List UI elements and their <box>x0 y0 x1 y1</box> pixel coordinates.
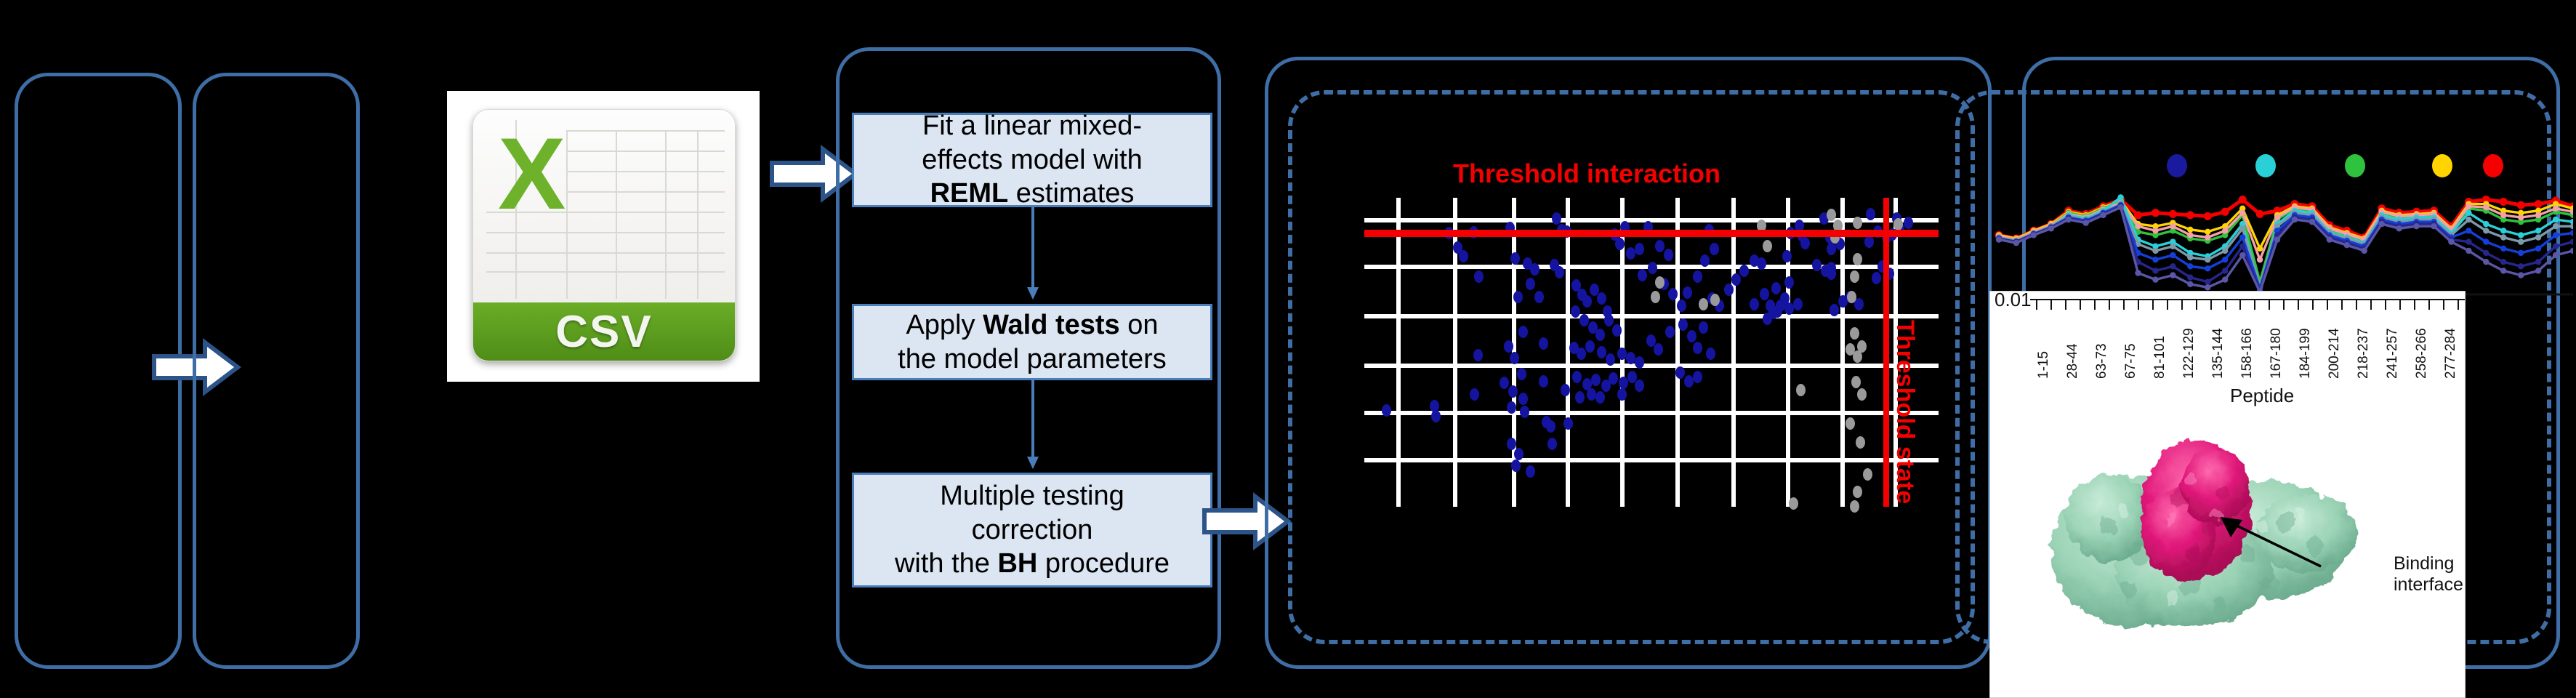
scatter-point <box>1474 270 1484 283</box>
point-series-darknavy <box>2570 238 2573 244</box>
scatter-point <box>1470 388 1479 401</box>
scatter-point <box>1665 326 1675 338</box>
scatter-point <box>1693 342 1702 354</box>
scatter-point <box>1530 263 1539 276</box>
point-series-steel <box>2500 234 2506 240</box>
scatter-point-ns <box>1851 376 1861 388</box>
csv-x-letter: X <box>498 123 565 225</box>
scatter-point-ns <box>1850 270 1859 283</box>
scatter-point <box>1693 270 1702 283</box>
grid-v <box>1731 198 1736 507</box>
scatter-point <box>1739 265 1749 277</box>
scatter-point <box>1459 250 1468 262</box>
point-series-pink <box>2170 223 2175 229</box>
scatter-point <box>1693 371 1702 383</box>
point-series-purple <box>2518 272 2524 278</box>
scatter-point <box>1604 314 1614 326</box>
peptide-tick-label: 218-237 <box>2356 328 2372 379</box>
point-series-purple <box>2344 242 2350 248</box>
scatter-point <box>1539 375 1548 388</box>
point-series-purple <box>2152 276 2158 282</box>
scatter-point <box>1587 388 1596 401</box>
marker-cyan <box>2255 154 2276 177</box>
scatter-point <box>1700 254 1710 267</box>
scatter-point <box>1563 417 1573 430</box>
scatter-point-ns <box>1857 388 1867 401</box>
point-series-cyan <box>2117 194 2123 200</box>
scatter-point <box>1577 348 1586 360</box>
peptide-tick-label: 122-129 <box>2181 328 2197 379</box>
scatter-point-ns <box>1856 436 1865 449</box>
scatter-point <box>1866 208 1875 220</box>
scatter-point <box>1572 371 1582 383</box>
scatter-point <box>1635 380 1644 392</box>
grid-h <box>1364 411 1939 415</box>
scatter-point <box>1675 366 1685 379</box>
scatter-point <box>1668 288 1678 300</box>
protein-structure-image <box>2030 417 2379 649</box>
point-series-darknavy <box>2170 263 2175 269</box>
point-series-red <box>2517 201 2525 209</box>
point-series-purple <box>2222 276 2228 282</box>
point-series-steel <box>2222 248 2228 254</box>
point-series-blue <box>2500 246 2506 252</box>
point-series-red <box>2134 211 2142 219</box>
point-series-purple <box>2553 252 2559 258</box>
point-series-pink <box>2205 234 2210 240</box>
scatter-point <box>1648 262 1657 274</box>
point-series-purple <box>2535 268 2541 273</box>
point-series-pink <box>2187 232 2193 238</box>
point-series-blue <box>2535 246 2541 252</box>
point-series-cyan <box>2500 228 2506 233</box>
scatter-point-ns <box>1710 294 1720 306</box>
scatter-point <box>1431 410 1441 422</box>
marker-yellow <box>2432 154 2452 177</box>
scatter-point <box>1699 321 1708 334</box>
scatter-point-ns <box>1853 217 1862 229</box>
scatter-point <box>1547 438 1557 450</box>
scatter-point <box>1571 305 1580 318</box>
scatter-point <box>1585 340 1595 353</box>
wald-line1-post: on <box>1120 310 1159 340</box>
scatter-point <box>1539 337 1548 350</box>
scatter-point-ns <box>1789 497 1798 510</box>
scatter-point-ns <box>1651 291 1660 303</box>
point-series-darknavy <box>2205 279 2210 285</box>
scatter-point <box>1827 243 1836 255</box>
scatter-point <box>1606 353 1615 366</box>
scatter-point <box>1534 291 1544 303</box>
point-series-purple <box>2187 281 2193 287</box>
point-series-purple <box>2083 220 2089 225</box>
scatter-point <box>1872 272 1881 284</box>
scatter-point-ns <box>1763 240 1772 252</box>
scatter-point <box>1812 259 1822 271</box>
point-series-steel <box>2535 234 2541 240</box>
scatter-point <box>1757 257 1766 270</box>
scatter-point <box>1504 340 1513 353</box>
scatter-point <box>1678 318 1688 331</box>
pipeline-figure: X CSV Fit a linear mixed- effects model … <box>0 0 2576 687</box>
scatter-point <box>1683 286 1692 299</box>
connector-box1-to-box2 <box>1027 207 1039 300</box>
scatter-point-ns <box>1796 384 1806 396</box>
scatter-point <box>1664 249 1673 261</box>
grid-v <box>1396 198 1401 507</box>
point-series-purple <box>2500 268 2506 273</box>
point-series-purple <box>2048 225 2054 231</box>
scatter-point <box>1507 401 1516 414</box>
point-series-purple <box>2239 252 2245 258</box>
csv-label-strip: CSV <box>473 302 735 361</box>
grid-v <box>1786 198 1790 507</box>
fit-model-reml: REML <box>930 178 1009 209</box>
scatter-point <box>1507 438 1516 450</box>
point-series-red <box>2204 212 2212 220</box>
scatter-point <box>1776 300 1785 312</box>
scatter-point-ns <box>1847 291 1856 303</box>
binding-interface-line2: interface <box>2394 574 2463 595</box>
scatter-point <box>1595 391 1605 404</box>
scatter-point <box>1500 377 1509 389</box>
scatter-point <box>1510 252 1520 265</box>
csv-icon-card: X CSV <box>447 91 760 382</box>
point-series-darknavy <box>2222 268 2228 273</box>
point-series-pink <box>2239 210 2245 216</box>
peptide-tick-label: 277-284 <box>2443 328 2459 379</box>
point-series-darknavy <box>2553 244 2559 249</box>
point-series-pink <box>2152 228 2158 233</box>
scatter-point <box>1731 273 1741 286</box>
scatter-point <box>1514 448 1524 460</box>
scatter-point-ns <box>1853 486 1862 498</box>
point-series-purple <box>2135 270 2141 276</box>
point-series-blue <box>2170 252 2175 258</box>
point-series-purple <box>2205 284 2210 290</box>
wald-bold: Wald tests <box>983 310 1120 340</box>
scatter-point <box>1655 240 1665 252</box>
point-series-yellow <box>2187 227 2193 233</box>
scatter-point-ns <box>1699 298 1708 310</box>
point-series-purple <box>2413 223 2419 229</box>
scatter-point <box>1687 330 1696 342</box>
point-series-steel <box>2205 257 2210 262</box>
point-series-cyan <box>2535 228 2541 233</box>
point-series-darknavy <box>2152 268 2158 273</box>
scatter-point <box>1619 377 1628 389</box>
threshold-interaction-line <box>1364 230 1939 237</box>
grid-h <box>1364 458 1939 462</box>
mt-line2: correction <box>972 515 1093 545</box>
scatter-point <box>1582 295 1592 308</box>
point-series-blue <box>2239 234 2245 240</box>
scatter-point <box>1784 276 1794 289</box>
point-series-purple <box>2274 236 2280 242</box>
point-series-purple <box>2431 223 2436 229</box>
scatter-point <box>1510 352 1519 364</box>
peptide-tick-label: 28-44 <box>2065 343 2081 379</box>
peptide-axis-title: Peptide <box>2230 385 2294 407</box>
peptide-tick-label: 184-199 <box>2298 328 2314 379</box>
point-series-steel <box>2553 223 2559 229</box>
scatter-point-ns <box>1846 417 1855 430</box>
scatter-point <box>1526 278 1535 290</box>
scatter-point <box>1518 393 1528 405</box>
point-series-red <box>2186 211 2194 219</box>
point-series-cyan <box>2553 217 2559 222</box>
scatter-point-ns <box>1857 340 1867 353</box>
point-series-steel <box>2152 248 2158 254</box>
scatter-point <box>1771 282 1781 294</box>
multiple-testing-box: Multiple testing correction with the BH … <box>852 473 1212 587</box>
point-series-steel <box>2570 223 2573 229</box>
scatter-point <box>1635 356 1644 369</box>
scatter-point <box>1575 391 1585 404</box>
point-series-pink <box>2466 204 2471 209</box>
scatter-point <box>1473 349 1483 361</box>
point-series-purple <box>2483 259 2489 265</box>
line-series-layer <box>1995 194 2574 295</box>
peptide-tick-label: 63-73 <box>2094 343 2110 379</box>
peptide-results-card: 0.01 <box>1989 291 2466 698</box>
scatter-point <box>1508 385 1518 398</box>
point-series-red <box>2152 209 2160 217</box>
scatter-point <box>1830 304 1839 316</box>
scatter-point <box>1615 238 1625 250</box>
binding-interface-label: Binding interface <box>2394 553 2463 595</box>
scatter-point <box>1552 212 1561 225</box>
marker-navy <box>2167 154 2187 177</box>
scatter-point <box>1724 284 1734 296</box>
scatter-point <box>1677 300 1686 312</box>
point-series-darknavy <box>2500 259 2506 265</box>
point-series-red <box>2221 208 2229 216</box>
scatter-point <box>1904 217 1913 229</box>
scatter-point <box>1654 343 1663 356</box>
scatter-point <box>1793 298 1803 310</box>
point-series-steel <box>2466 217 2471 222</box>
mt-line3-post: procedure <box>1037 548 1170 579</box>
peptide-tick-label: 258-266 <box>2414 328 2430 379</box>
point-series-pink <box>2135 223 2141 229</box>
wald-line1-pre: Apply <box>906 310 983 340</box>
point-series-darknavy <box>2466 238 2471 244</box>
point-series-purple <box>2031 232 2037 238</box>
volcano-scatter-plot <box>1364 198 1939 507</box>
point-series-steel <box>2187 254 2193 260</box>
point-series-red <box>2500 198 2508 206</box>
point-series-blue <box>2570 230 2573 236</box>
point-series-pink <box>2553 206 2559 212</box>
point-series-pink <box>2257 257 2263 262</box>
grid-v <box>1675 198 1680 507</box>
point-series-darknavy <box>2239 244 2245 249</box>
scatter-point <box>1635 243 1644 255</box>
point-series-pink <box>2500 212 2506 218</box>
scatter-point <box>1518 326 1528 338</box>
point-series-purple <box>2117 204 2123 210</box>
point-series-blue <box>2553 232 2559 238</box>
scatter-point <box>1760 288 1769 300</box>
fit-model-line3-post: estimates <box>1008 178 1134 209</box>
point-series-red <box>2169 210 2177 218</box>
scatter-point-ns <box>1850 500 1859 513</box>
fit-model-box: Fit a linear mixed- effects model with R… <box>852 113 1212 207</box>
peptide-tick-labels: 1-1528-4463-7367-7581-101122-129135-1441… <box>1990 292 2465 386</box>
point-series-pink <box>2483 204 2489 210</box>
point-series-purple <box>2292 217 2298 222</box>
scatter-point <box>1591 374 1601 386</box>
point-series-purple <box>2379 221 2385 227</box>
fit-model-line2: effects model with <box>922 145 1142 175</box>
peptide-tick-label: 158-166 <box>2239 328 2255 379</box>
scatter-point <box>1382 404 1391 417</box>
point-series-pink <box>2222 228 2228 233</box>
peptide-tick-label: 167-180 <box>2269 328 2285 379</box>
binding-interface-line1: Binding <box>2394 553 2463 574</box>
csv-label: CSV <box>555 306 652 358</box>
mt-line3-pre: with the <box>895 548 998 579</box>
point-series-cyan <box>2466 210 2471 216</box>
wald-tests-box: Apply Wald tests on the model parameters <box>852 304 1212 380</box>
point-series-purple <box>2013 240 2019 246</box>
grid-h <box>1364 314 1939 318</box>
scatter-point <box>1597 292 1606 305</box>
scatter-point <box>1595 329 1605 341</box>
point-series-purple <box>2309 219 2315 225</box>
point-series-red <box>2256 210 2264 218</box>
threshold-state-line <box>1883 198 1889 507</box>
scatter-point <box>1526 465 1535 478</box>
scatter-point-ns <box>1893 218 1903 230</box>
point-series-blue <box>2205 265 2210 271</box>
peptide-tick-label: 200-214 <box>2327 328 2343 379</box>
point-series-darknavy <box>2518 263 2524 269</box>
scatter-point <box>1517 368 1526 380</box>
wald-line2: the model parameters <box>898 344 1167 374</box>
scatter-point <box>1609 372 1618 385</box>
grid-h <box>1364 364 1939 368</box>
fit-model-line1: Fit a linear mixed- <box>922 111 1142 141</box>
peptide-tick-label: 1-15 <box>2036 351 2052 379</box>
scatter-point <box>1710 243 1719 255</box>
point-series-blue <box>2152 257 2158 262</box>
scatter-point <box>1638 269 1647 281</box>
point-series-red <box>2239 196 2247 204</box>
scatter-point <box>1750 298 1759 310</box>
point-series-blue <box>2518 250 2524 256</box>
point-series-purple <box>2448 238 2454 244</box>
point-series-steel <box>2170 244 2175 249</box>
scatter-point-ns <box>1827 209 1836 221</box>
scatter-point <box>1561 384 1570 396</box>
scatter-point <box>1612 324 1622 337</box>
point-series-blue <box>2187 263 2193 269</box>
point-series-darknavy <box>2535 259 2541 265</box>
point-series-darknavy <box>2187 274 2193 280</box>
point-series-red <box>2535 200 2543 208</box>
scatter-point <box>1617 388 1627 401</box>
scatter-point-ns <box>1863 468 1872 481</box>
point-series-purple <box>2066 217 2072 222</box>
scatter-point <box>1511 460 1521 472</box>
point-series-blue <box>2466 228 2471 233</box>
point-series-darknavy <box>2483 250 2489 256</box>
scatter-point <box>1555 266 1564 278</box>
scatter-point <box>1827 268 1836 280</box>
peptide-line-chart <box>1955 142 2573 298</box>
peptide-tick-label: 67-75 <box>2123 343 2139 379</box>
csv-file-icon: X CSV <box>472 109 736 361</box>
point-series-cyan <box>2518 232 2524 238</box>
point-series-pink <box>2518 214 2524 220</box>
scatter-point <box>1597 346 1606 358</box>
point-series-purple <box>2570 248 2573 254</box>
point-series-purple <box>1996 236 2002 242</box>
scatter-point <box>1706 348 1715 360</box>
point-series-steel <box>2239 225 2245 231</box>
threshold-interaction-label: Threshold interaction <box>1453 159 1720 189</box>
point-series-purple <box>2170 272 2175 278</box>
point-series-blue <box>2483 238 2489 244</box>
grid-v <box>1566 198 1570 507</box>
scatter-point-ns <box>1853 253 1862 265</box>
point-series-purple <box>2327 236 2333 242</box>
point-series-purple <box>2100 212 2106 218</box>
scatter-point-ns <box>1850 327 1859 340</box>
marker-green <box>2345 154 2365 177</box>
scatter-point <box>1520 406 1529 418</box>
point-series-steel <box>2518 238 2524 244</box>
scatter-point-ns <box>1655 276 1665 289</box>
mt-bh: BH <box>997 548 1037 579</box>
scatter-point <box>1782 250 1792 262</box>
scatter-point <box>1864 236 1874 248</box>
point-series-pink <box>2274 214 2280 220</box>
point-series-pink <box>2535 212 2541 218</box>
scatter-point <box>1579 314 1589 326</box>
point-series-yellow <box>2205 229 2210 235</box>
ligand-binding-region <box>2141 440 2251 579</box>
point-series-purple <box>2466 248 2471 254</box>
scatter-point <box>1513 291 1523 303</box>
point-series-steel <box>2483 228 2489 233</box>
point-series-purple <box>2396 225 2402 231</box>
peptide-tick-label: 241-257 <box>2385 328 2401 379</box>
point-series-purple <box>2362 248 2367 254</box>
connector-box2-to-box3 <box>1027 380 1039 469</box>
marker-red <box>2483 154 2503 177</box>
csv-stage-panel <box>193 73 360 669</box>
point-series-blue <box>2222 257 2228 262</box>
threshold-state-label: Threshold state <box>1891 320 1919 504</box>
peptide-tick-label: 81-101 <box>2152 336 2168 379</box>
mt-line1: Multiple testing <box>940 481 1124 511</box>
scatter-point <box>1542 416 1551 428</box>
point-series-cyan <box>2483 221 2489 227</box>
peptide-tick-label: 135-144 <box>2210 328 2226 379</box>
